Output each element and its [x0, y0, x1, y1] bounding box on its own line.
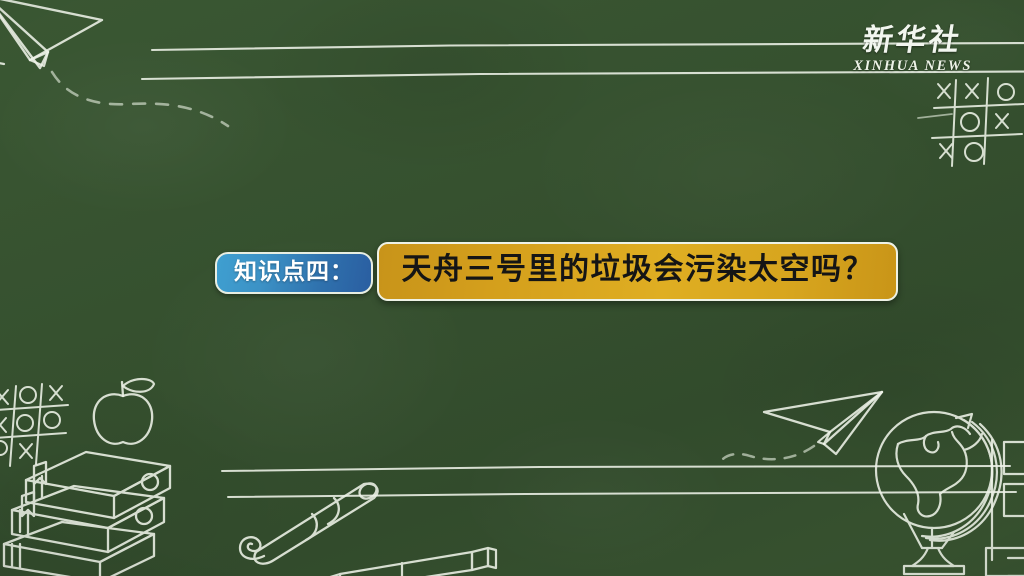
knowledge-point-tag-label: 知识点四：	[234, 259, 354, 285]
globe	[868, 398, 1018, 576]
logo-chinese-text: 新华社	[851, 26, 974, 56]
paper-plane-bottom-right	[718, 382, 928, 468]
rolled-scroll	[216, 478, 406, 576]
title-group: 知识点四： 天舟三号里的垃圾会污染太空吗？	[215, 247, 898, 301]
question-bar: 天舟三号里的垃圾会污染太空吗？	[377, 242, 898, 301]
xinhua-news-logo: 新华社 XINHUA NEWS	[853, 26, 972, 74]
pencil	[300, 542, 500, 576]
chalk-line-bottom-lower	[226, 488, 1016, 502]
knowledge-point-tag: 知识点四：	[215, 252, 373, 294]
paper-plane-top-left	[0, 0, 284, 154]
title-card-scene: 新华社 XINHUA NEWS 知识点四：	[0, 0, 1024, 576]
apple-on-books	[78, 378, 168, 448]
book-stack	[4, 440, 204, 576]
question-text: 天舟三号里的垃圾会污染太空吗？	[401, 253, 874, 288]
right-edge-books	[986, 440, 1024, 576]
chalk-line-bottom-upper	[220, 462, 1010, 476]
logo-english-text: XINHUA NEWS	[853, 59, 972, 74]
tic-tac-toe-top-right	[930, 78, 1024, 174]
tic-tac-toe-bottom-left	[0, 382, 74, 472]
